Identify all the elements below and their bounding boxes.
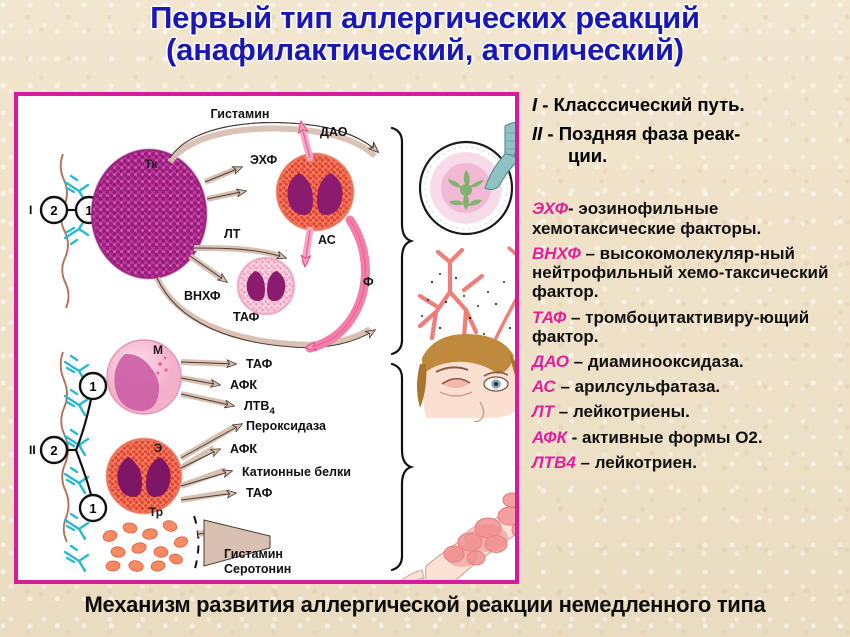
label-vnhf: ВНХФ xyxy=(184,289,221,303)
legend-abbr-4-key: АС xyxy=(532,377,556,396)
legend-abbr-2: ТАФ – тромбоцитактивиру-ющий фактор. xyxy=(532,308,844,346)
marker-inner-1-top: 1 xyxy=(89,379,96,394)
title-line-2: (анафилактический, атопический) xyxy=(0,34,850,66)
ltb4-base: ЛТВ xyxy=(244,399,269,413)
eosinophil-lower: Э xyxy=(107,439,181,513)
legend-abbr-7-dash: – xyxy=(576,453,595,472)
label-lt: ЛТ xyxy=(224,227,241,241)
legend-abbr-3-dash: – xyxy=(569,352,588,371)
eosinophil-upper xyxy=(277,154,353,230)
legend-abbr-5-def: лейкотриены. xyxy=(573,402,690,421)
mast-cell-label: Тк xyxy=(145,157,159,171)
platelets-label: Тр xyxy=(149,505,163,519)
legend-roman-0-text: Класссический путь. xyxy=(554,94,745,115)
legend-abbr-5-dash: – xyxy=(554,402,573,421)
legend-abbr-7-def: лейкотриен. xyxy=(595,453,697,472)
label-f: Ф xyxy=(363,275,374,289)
legend-abbr-0-dash: - xyxy=(568,199,578,218)
legend-roman-0: I - Класссический путь. xyxy=(532,94,844,116)
bottom-caption: Механизм развития аллергической реакции … xyxy=(0,592,850,618)
title-line-1: Первый тип аллергических реакций xyxy=(0,2,850,34)
label-as: АС xyxy=(318,233,336,247)
legend-spacer xyxy=(532,173,844,199)
legend-abbr-5-key: ЛТ xyxy=(532,402,554,421)
facial-angioedema-illustration xyxy=(417,334,515,422)
lower-label-6: ТАФ xyxy=(246,486,273,500)
allergy-mechanism-diagram: I 2 1 Тк Гистамин ЭХФ xyxy=(18,96,515,580)
lower-label-4: АФК xyxy=(230,442,257,456)
marker-inner-1-bottom: 1 xyxy=(89,501,96,516)
legend-abbr-3-def: диаминооксидаза. xyxy=(588,352,744,371)
legend-abbr-6-dash: - xyxy=(567,428,582,447)
legend-abbr-1-key: ВНХФ xyxy=(532,244,581,263)
label-ehf: ЭХФ xyxy=(250,153,277,167)
legend-abbr-6-key: АФК xyxy=(532,428,567,447)
legend-abbr-7-key: ЛТВ4 xyxy=(532,453,576,472)
legend-abbr-7: ЛТВ4 – лейкотриен. xyxy=(532,453,844,472)
legend-abbr-1: ВНХФ – высокомолекуляр-ный нейтрофильный… xyxy=(532,244,844,302)
legend-abbr-6-def: активные формы О2. xyxy=(582,428,763,447)
legend-column: I - Класссический путь. II - Поздняя фаз… xyxy=(532,94,844,582)
legend-roman-1-dash: - xyxy=(542,123,558,144)
roman-numeral-I: I xyxy=(29,203,32,217)
legend-abbr-6: АФК - активные формы О2. xyxy=(532,428,844,447)
legend-abbr-1-dash: – xyxy=(581,244,600,263)
lower-label-5: Катионные белки xyxy=(242,465,351,479)
macrophage-label: М xyxy=(153,343,163,357)
lower-label-0: ТАФ xyxy=(246,357,273,371)
eosinophil-lower-label: Э xyxy=(154,441,163,455)
roman-numeral-II: II xyxy=(29,443,36,457)
legend-abbr-3: ДАО – диаминооксидаза. xyxy=(532,352,844,371)
legend-roman-0-dash: - xyxy=(537,94,553,115)
ltb4-sub: 4 xyxy=(269,406,275,417)
platelet-output-0: Гистамин xyxy=(224,547,283,561)
legend-roman-1-indent: ции. xyxy=(532,145,844,167)
legend-roman-1-text: Поздняя фаза реак- xyxy=(559,123,741,144)
legend-abbr-4: АС – арилсульфатаза. xyxy=(532,377,844,396)
legend-abbr-4-dash: – xyxy=(556,377,575,396)
neutrophil xyxy=(238,258,294,314)
legend-abbr-3-key: ДАО xyxy=(532,352,569,371)
marker-outer-2: 2 xyxy=(50,203,57,218)
legend-roman-1: II - Поздняя фаза реак- ции. xyxy=(532,123,844,167)
legend-abbr-0-key: ЭХФ xyxy=(532,199,568,218)
lower-label-1: АФК xyxy=(230,378,257,392)
legend-abbr-2-dash: – xyxy=(566,308,585,327)
marker-outer-2-lower: 2 xyxy=(50,443,57,458)
platelet-output-1: Серотонин xyxy=(224,562,291,576)
lower-label-3: Пероксидаза xyxy=(246,419,327,433)
legend-roman-1-numeral: II xyxy=(532,123,542,144)
legend-abbr-5: ЛТ – лейкотриены. xyxy=(532,402,844,421)
legend-abbr-0: ЭХФ- эозинофильные хемотаксические факто… xyxy=(532,199,844,237)
legend-abbr-2-key: ТАФ xyxy=(532,308,566,327)
macrophage: М xyxy=(107,340,181,414)
label-dao: ДАО xyxy=(320,125,348,139)
diagram-panel: I 2 1 Тк Гистамин ЭХФ xyxy=(14,92,519,584)
legend-abbr-4-def: арилсульфатаза. xyxy=(575,377,721,396)
label-histamine: Гистамин xyxy=(211,107,270,121)
page-title: Первый тип аллергических реакций (анафил… xyxy=(0,2,850,66)
